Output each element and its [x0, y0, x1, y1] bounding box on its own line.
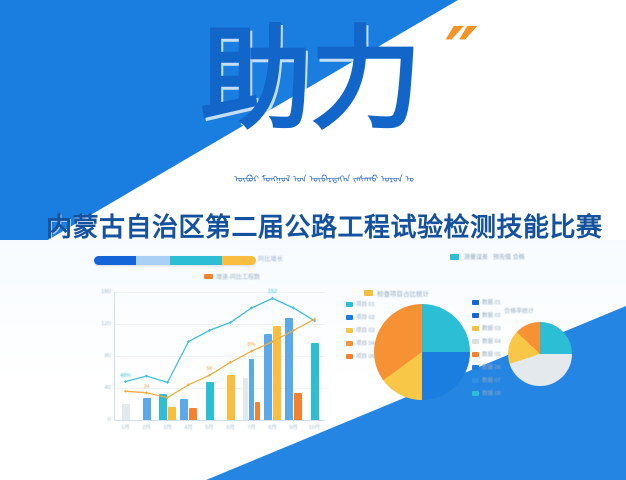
legend-swatch	[472, 313, 479, 318]
legend-item: 数据 07	[472, 376, 501, 384]
legend-item: 数据 08	[472, 389, 501, 397]
combo-legend-pill	[94, 256, 256, 265]
mongolian-subtitle: ᠥᠪᠦᠷ ᠮᠣᠩᠭᠣᠯ ᠤᠨ ᠥᠪᠡᠷᠲᠡᠭᠡᠨ ᠵᠠᠰᠠᠬᠤ ᠣᠷᠣᠨ ᠤ	[84, 169, 564, 185]
legend-label: 数据 07	[482, 376, 501, 384]
dashboard-graphic: 同比增长 增速-同比工程数 04080120160 1月2月3月4月5月6月7月…	[0, 248, 626, 452]
x-axis-tick: 9月	[289, 423, 298, 431]
pie-legend-left: 项目 01项目 02项目 03项目 04项目 05	[346, 300, 375, 360]
x-axis-tick: 10月	[309, 423, 321, 431]
pie-title-swatch	[364, 290, 373, 296]
trend-line	[126, 298, 315, 382]
legend-swatch-line	[204, 274, 213, 279]
poster-root: 助力 ″ ᠥᠪᠦᠷ ᠮᠣᠩᠭᠣᠯ ᠤᠨ ᠥᠪᠡᠷᠲᠡᠭᠡᠨ ᠵᠠᠰᠠᠬᠤ ᠣᠷᠣ…	[0, 0, 626, 480]
legend-swatch	[346, 315, 353, 320]
legend-label: 数据 02	[482, 311, 501, 319]
legend-label: 数据 03	[482, 324, 501, 332]
pie-legend-middle: 数据 01数据 02数据 03数据 04数据 05数据 06数据 07数据 08	[472, 298, 501, 397]
pie-legend-top-label: 测量误差	[464, 252, 488, 261]
legend-swatch	[472, 378, 479, 383]
data-point	[124, 380, 127, 383]
legend-label: 数据 01	[482, 298, 501, 306]
pie-title-row: 检查项目占比统计	[364, 288, 429, 298]
pie-main-title: 检查项目占比统计	[377, 288, 429, 298]
y-axis-tick: 120	[101, 321, 111, 327]
x-axis-tick: 1月	[121, 423, 130, 431]
legend-label: 项目 05	[356, 352, 375, 360]
legend-item: 数据 03	[472, 324, 501, 332]
data-point-label: 34	[143, 384, 149, 390]
data-point-label: 8%	[248, 342, 256, 348]
legend-label: 数据 05	[482, 350, 501, 358]
legend-item: 数据 02	[472, 311, 501, 319]
legend-swatch	[472, 339, 479, 344]
trend-line	[126, 319, 315, 397]
data-point-label: 48%	[120, 373, 131, 379]
legend-label: 数据 08	[482, 389, 501, 397]
legend-swatch	[346, 341, 353, 346]
data-point-label: 56	[206, 366, 212, 372]
x-axis-tick: 8月	[268, 423, 277, 431]
pie-chart-secondary	[508, 322, 572, 386]
hero-headline: 助力 ″	[200, 24, 530, 154]
x-axis-tick: 6月	[226, 423, 235, 431]
y-axis-tick: 80	[104, 353, 111, 359]
combo-chart: 同比增长 增速-同比工程数 04080120160 1月2月3月4月5月6月7月…	[78, 250, 340, 446]
data-point	[145, 391, 148, 394]
combo-legend-line: 增速-同比工程数	[204, 272, 260, 281]
legend-swatch	[472, 352, 479, 357]
pie-charts: 测量误差 预先值 合格 检查项目占比统计 项目 01项目 02项目 03项目 0…	[344, 248, 616, 448]
data-point	[145, 374, 148, 377]
legend-swatch-3	[170, 256, 222, 265]
legend-label: 项目 02	[356, 313, 375, 321]
legend-item: 项目 03	[346, 326, 375, 334]
legend-label: 项目 01	[356, 300, 375, 308]
legend-swatch-2	[136, 256, 170, 265]
x-axis-tick: 7月	[247, 423, 256, 431]
legend-item: 项目 02	[346, 313, 375, 321]
legend-item: 项目 01	[346, 300, 375, 308]
combo-legend-line-label: 增速-同比工程数	[216, 272, 260, 281]
combo-plot-area: 04080120160 1月2月3月4月5月6月7月8月9月10月 48%152…	[114, 292, 325, 421]
legend-swatch	[472, 300, 479, 305]
legend-swatch	[472, 365, 479, 370]
legend-swatch	[346, 302, 353, 307]
pie-legend-top-extra: 预先值 合格	[493, 252, 525, 261]
legend-item: 项目 04	[346, 339, 375, 347]
legend-swatch	[346, 328, 353, 333]
legend-item: 数据 04	[472, 337, 501, 345]
x-axis-tick: 4月	[184, 423, 193, 431]
combo-legend-pill-label: 同比增长	[258, 254, 283, 263]
data-point-label: 152	[268, 289, 277, 295]
pie-chart-main	[374, 304, 470, 400]
pie-legend-top: 测量误差 预先值 合格	[450, 252, 525, 261]
data-point	[124, 390, 127, 393]
legend-swatch	[472, 326, 479, 331]
legend-swatch	[472, 391, 479, 396]
y-axis-tick: 0	[108, 417, 111, 423]
x-axis-tick: 3月	[163, 423, 172, 431]
legend-label: 数据 06	[482, 363, 501, 371]
combo-line-overlay	[115, 292, 325, 420]
x-axis-tick: 5月	[205, 423, 214, 431]
legend-item: 数据 05	[472, 350, 501, 358]
legend-swatch	[346, 354, 353, 359]
legend-label: 项目 03	[356, 326, 375, 334]
pie-legend-top-swatch	[450, 254, 459, 260]
legend-item: 数据 01	[472, 298, 501, 306]
legend-label: 项目 04	[356, 339, 375, 347]
legend-swatch-4	[222, 256, 256, 265]
legend-label: 数据 04	[482, 337, 501, 345]
legend-item: 数据 06	[472, 363, 501, 371]
page-title: 内蒙古自治区第二届公路工程试验检测技能比赛	[46, 207, 586, 244]
hero-text: 助力	[200, 24, 530, 136]
legend-swatch-1	[94, 256, 136, 265]
y-axis-tick: 40	[104, 385, 111, 391]
y-axis-tick: 160	[101, 289, 111, 295]
legend-item: 项目 05	[346, 352, 375, 360]
x-axis-tick: 2月	[142, 423, 151, 431]
pie-secondary-title: 合格率统计	[504, 306, 534, 315]
